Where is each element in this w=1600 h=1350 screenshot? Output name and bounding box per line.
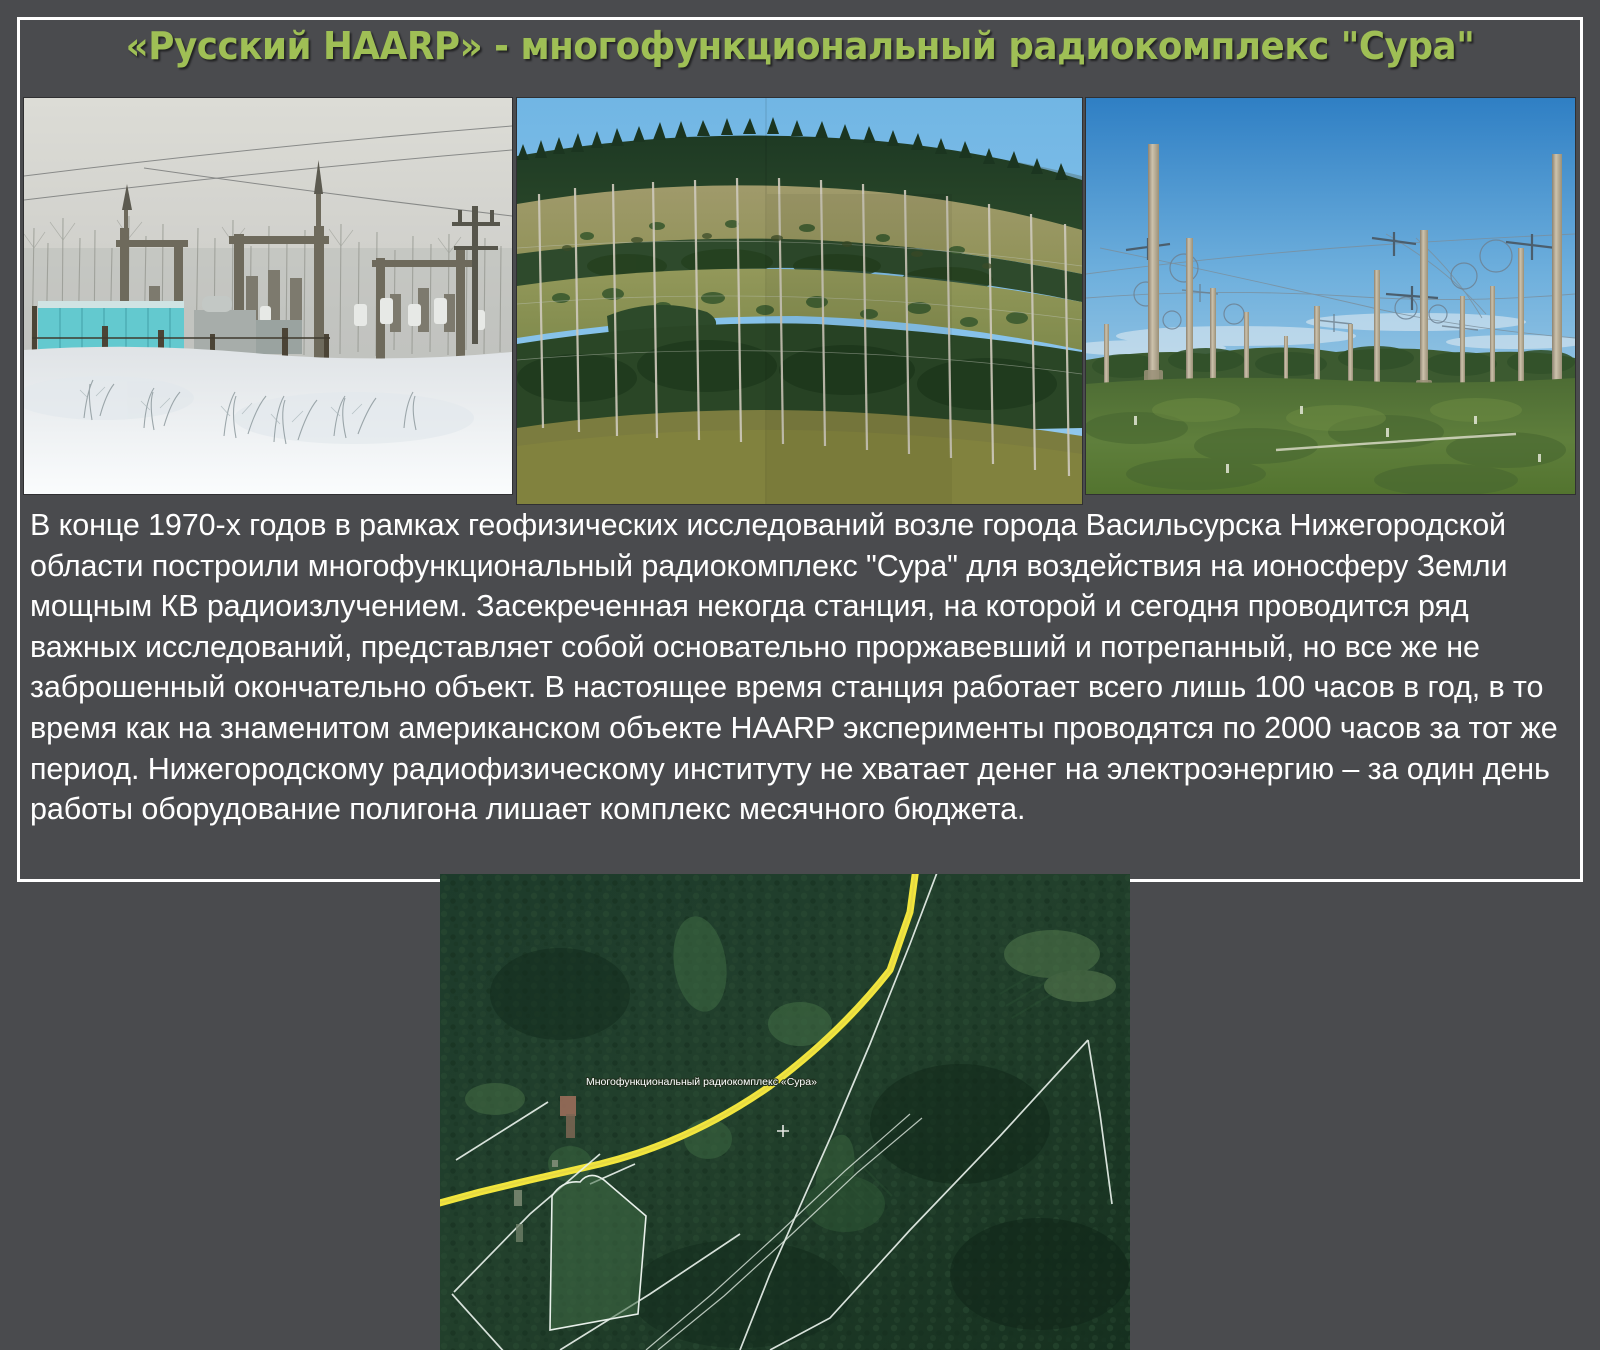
page-title: «Русский HAARP» - многофункциональный ра… xyxy=(67,24,1533,68)
winter-substation-photo xyxy=(24,98,512,494)
winter-substation-illustration xyxy=(24,98,512,494)
description-paragraph: В конце 1970-х годов в рамках геофизичес… xyxy=(30,505,1570,830)
antenna-field-illustration xyxy=(1086,98,1575,494)
satellite-map-illustration: Многофункциональный радиокомплекс «Сура» xyxy=(440,874,1130,1350)
antenna-hillside-illustration xyxy=(517,98,1082,504)
map-label: Многофункциональный радиокомплекс «Сура» xyxy=(586,1076,817,1088)
antenna-hillside-photo xyxy=(517,98,1082,504)
satellite-map[interactable]: Многофункциональный радиокомплекс «Сура» xyxy=(440,874,1130,1350)
slide-canvas: «Русский HAARP» - многофункциональный ра… xyxy=(0,0,1600,1350)
antenna-field-photo xyxy=(1086,98,1575,494)
